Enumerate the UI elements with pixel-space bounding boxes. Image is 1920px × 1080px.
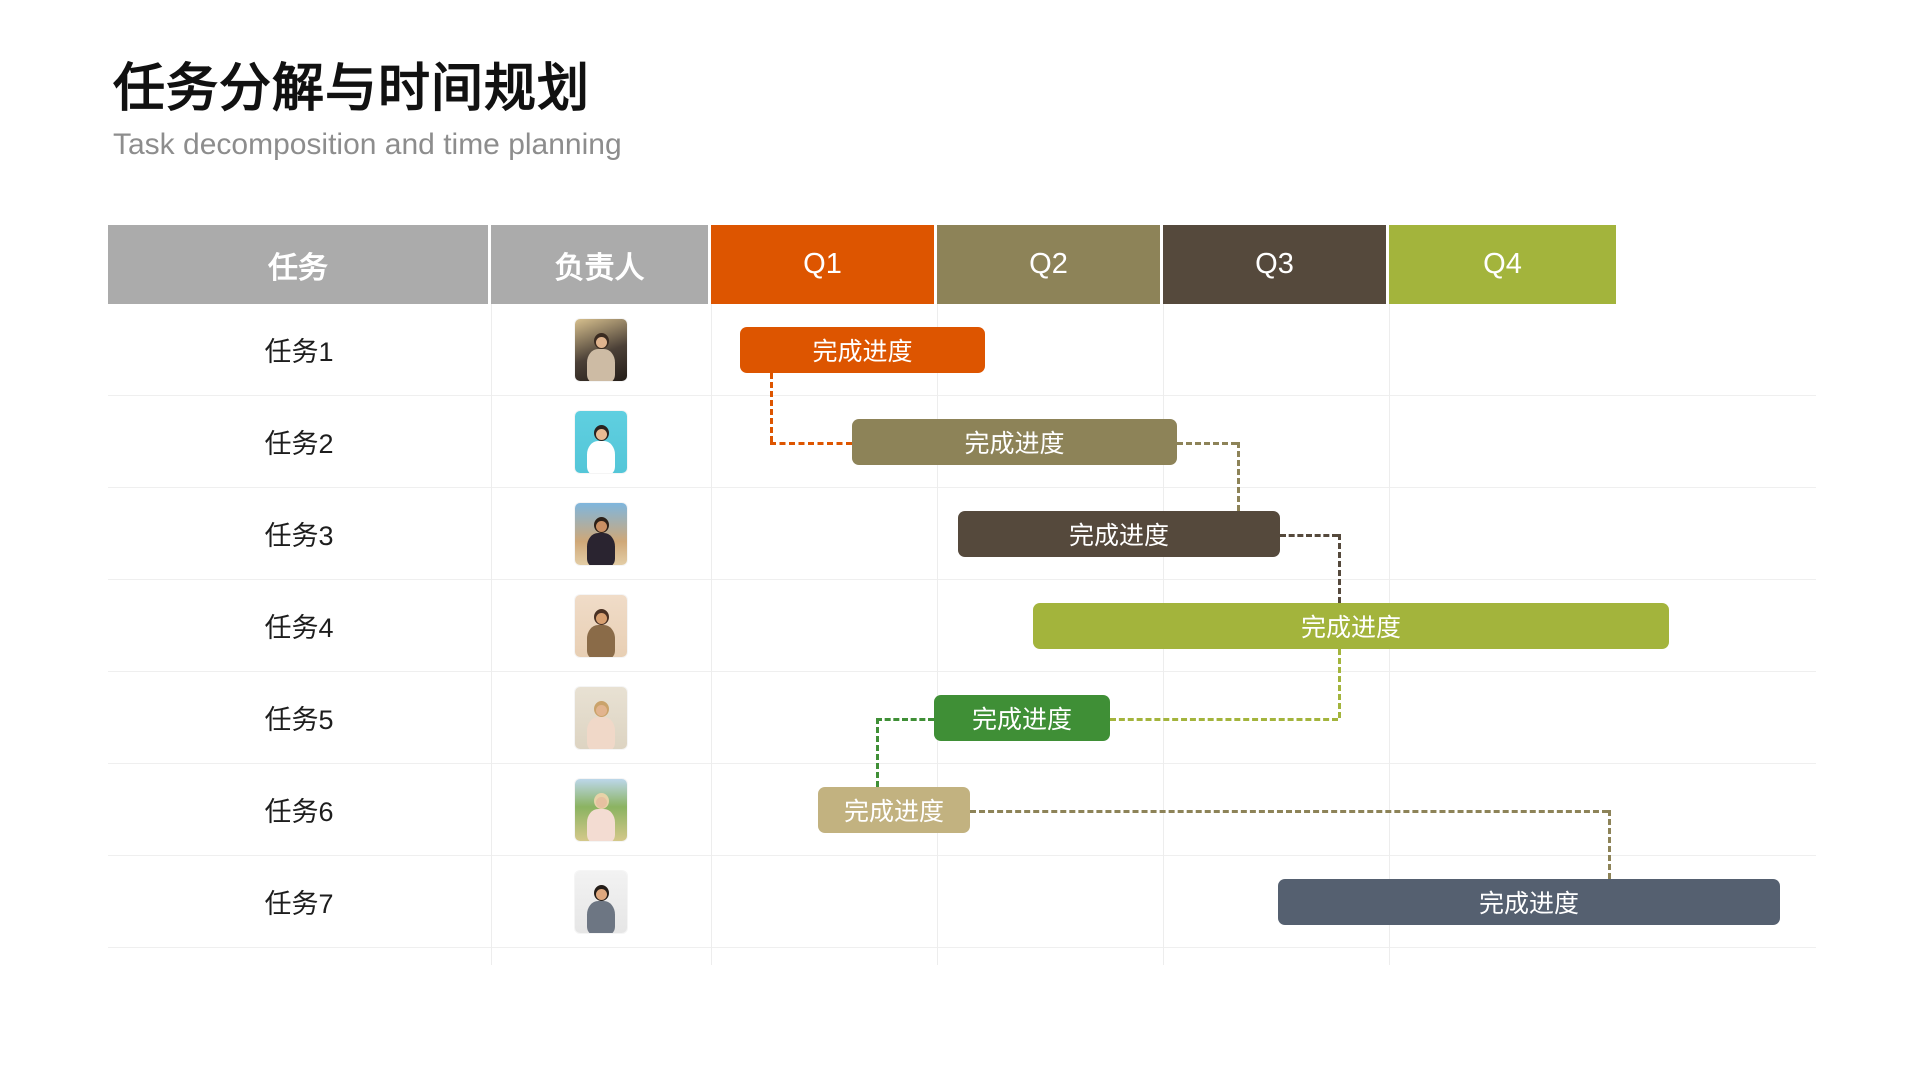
avatar-face <box>596 521 607 532</box>
table-header-row: 任务负责人Q1Q2Q3Q4 <box>108 225 1816 304</box>
cell-task-name: 任务1 <box>108 304 490 395</box>
gantt-bar[interactable]: 完成进度 <box>958 511 1280 557</box>
avatar-person-in-car <box>575 319 627 381</box>
dependency-link-h <box>876 718 934 721</box>
avatar-face <box>596 797 607 808</box>
cell-task-name: 任务5 <box>108 672 490 763</box>
cell-task-name: 任务4 <box>108 580 490 671</box>
gantt-bar[interactable]: 完成进度 <box>1278 879 1780 925</box>
column-header-label: Q2 <box>1029 248 1068 281</box>
avatar-face <box>596 429 607 440</box>
column-divider <box>491 304 492 965</box>
gantt-bar-label: 完成进度 <box>844 792 944 828</box>
column-header-q3[interactable]: Q3 <box>1163 225 1389 304</box>
avatar-face <box>596 889 607 900</box>
dependency-link-v <box>1338 534 1341 603</box>
gantt-bar-label: 完成进度 <box>1301 608 1401 644</box>
dependency-link-v <box>1608 810 1611 879</box>
column-header-label: Q1 <box>803 248 842 281</box>
column-header-q1[interactable]: Q1 <box>711 225 937 304</box>
table-body: 任务1任务2任务3任务4任务5任务6任务7完成进度完成进度完成进度完成进度完成进… <box>108 304 1816 965</box>
gantt-bar-label: 完成进度 <box>1069 516 1169 552</box>
avatar-body <box>587 441 615 473</box>
dependency-link-v <box>770 373 773 442</box>
dependency-link-h <box>770 442 852 445</box>
column-header-label: 负责人 <box>555 243 645 287</box>
cell-owner-avatar <box>491 304 711 395</box>
avatar-man-in-gray-suit <box>575 871 627 933</box>
column-header-label: Q4 <box>1483 248 1522 281</box>
cell-task-name: 任务2 <box>108 396 490 487</box>
dependency-link-h <box>1177 442 1237 445</box>
gantt-bar[interactable]: 完成进度 <box>852 419 1177 465</box>
avatar-woman-in-field <box>575 779 627 841</box>
page-title: 任务分解与时间规划 <box>113 60 622 118</box>
avatar-woman-beige-background <box>575 687 627 749</box>
dependency-link-v <box>1237 442 1240 511</box>
avatar-photographer-at-beach <box>575 503 627 565</box>
avatar-body <box>587 717 615 749</box>
avatar-person-with-guitar <box>575 595 627 657</box>
dependency-link-v <box>876 718 879 787</box>
cell-owner-avatar <box>491 488 711 579</box>
gantt-bar[interactable]: 完成进度 <box>818 787 970 833</box>
cell-owner-avatar <box>491 580 711 671</box>
column-header-q4[interactable]: Q4 <box>1389 225 1616 304</box>
dependency-link-h <box>1280 534 1338 537</box>
cell-owner-avatar <box>491 396 711 487</box>
avatar-face <box>596 337 607 348</box>
avatar-person-cyan-background <box>575 411 627 473</box>
cell-owner-avatar <box>491 672 711 763</box>
heading-block: 任务分解与时间规划 Task decomposition and time pl… <box>113 60 622 162</box>
cell-task-name: 任务3 <box>108 488 490 579</box>
cell-task-name: 任务7 <box>108 856 490 947</box>
cell-task-name: 任务6 <box>108 764 490 855</box>
avatar-face <box>596 613 607 624</box>
avatar-body <box>587 625 615 657</box>
dependency-link-h <box>970 810 1608 813</box>
gantt-bar-label: 完成进度 <box>964 424 1064 460</box>
page-subtitle: Task decomposition and time planning <box>113 128 622 162</box>
avatar-face <box>596 705 607 716</box>
gantt-bar[interactable]: 完成进度 <box>740 327 985 373</box>
column-divider <box>937 304 938 965</box>
gantt-bar-label: 完成进度 <box>972 700 1072 736</box>
slide-root: 任务分解与时间规划 Task decomposition and time pl… <box>0 0 1920 1080</box>
cell-owner-avatar <box>491 856 711 947</box>
avatar-body <box>587 901 615 933</box>
avatar-body <box>587 533 615 565</box>
column-header-label: Q3 <box>1255 248 1294 281</box>
column-header-owner[interactable]: 负责人 <box>491 225 711 304</box>
column-header-q2[interactable]: Q2 <box>937 225 1163 304</box>
gantt-bar-label: 完成进度 <box>812 332 912 368</box>
column-divider <box>711 304 712 965</box>
cell-owner-avatar <box>491 764 711 855</box>
gantt-bar[interactable]: 完成进度 <box>934 695 1110 741</box>
column-header-task[interactable]: 任务 <box>108 225 491 304</box>
avatar-body <box>587 349 615 381</box>
column-header-label: 任务 <box>268 243 328 287</box>
avatar-body <box>587 809 615 841</box>
dependency-link-v <box>1338 649 1341 718</box>
gantt-bar[interactable]: 完成进度 <box>1033 603 1669 649</box>
gantt-bar-label: 完成进度 <box>1479 884 1579 920</box>
dependency-link-h <box>1110 718 1338 721</box>
gantt-table: 任务负责人Q1Q2Q3Q4 任务1任务2任务3任务4任务5任务6任务7完成进度完… <box>108 225 1816 965</box>
